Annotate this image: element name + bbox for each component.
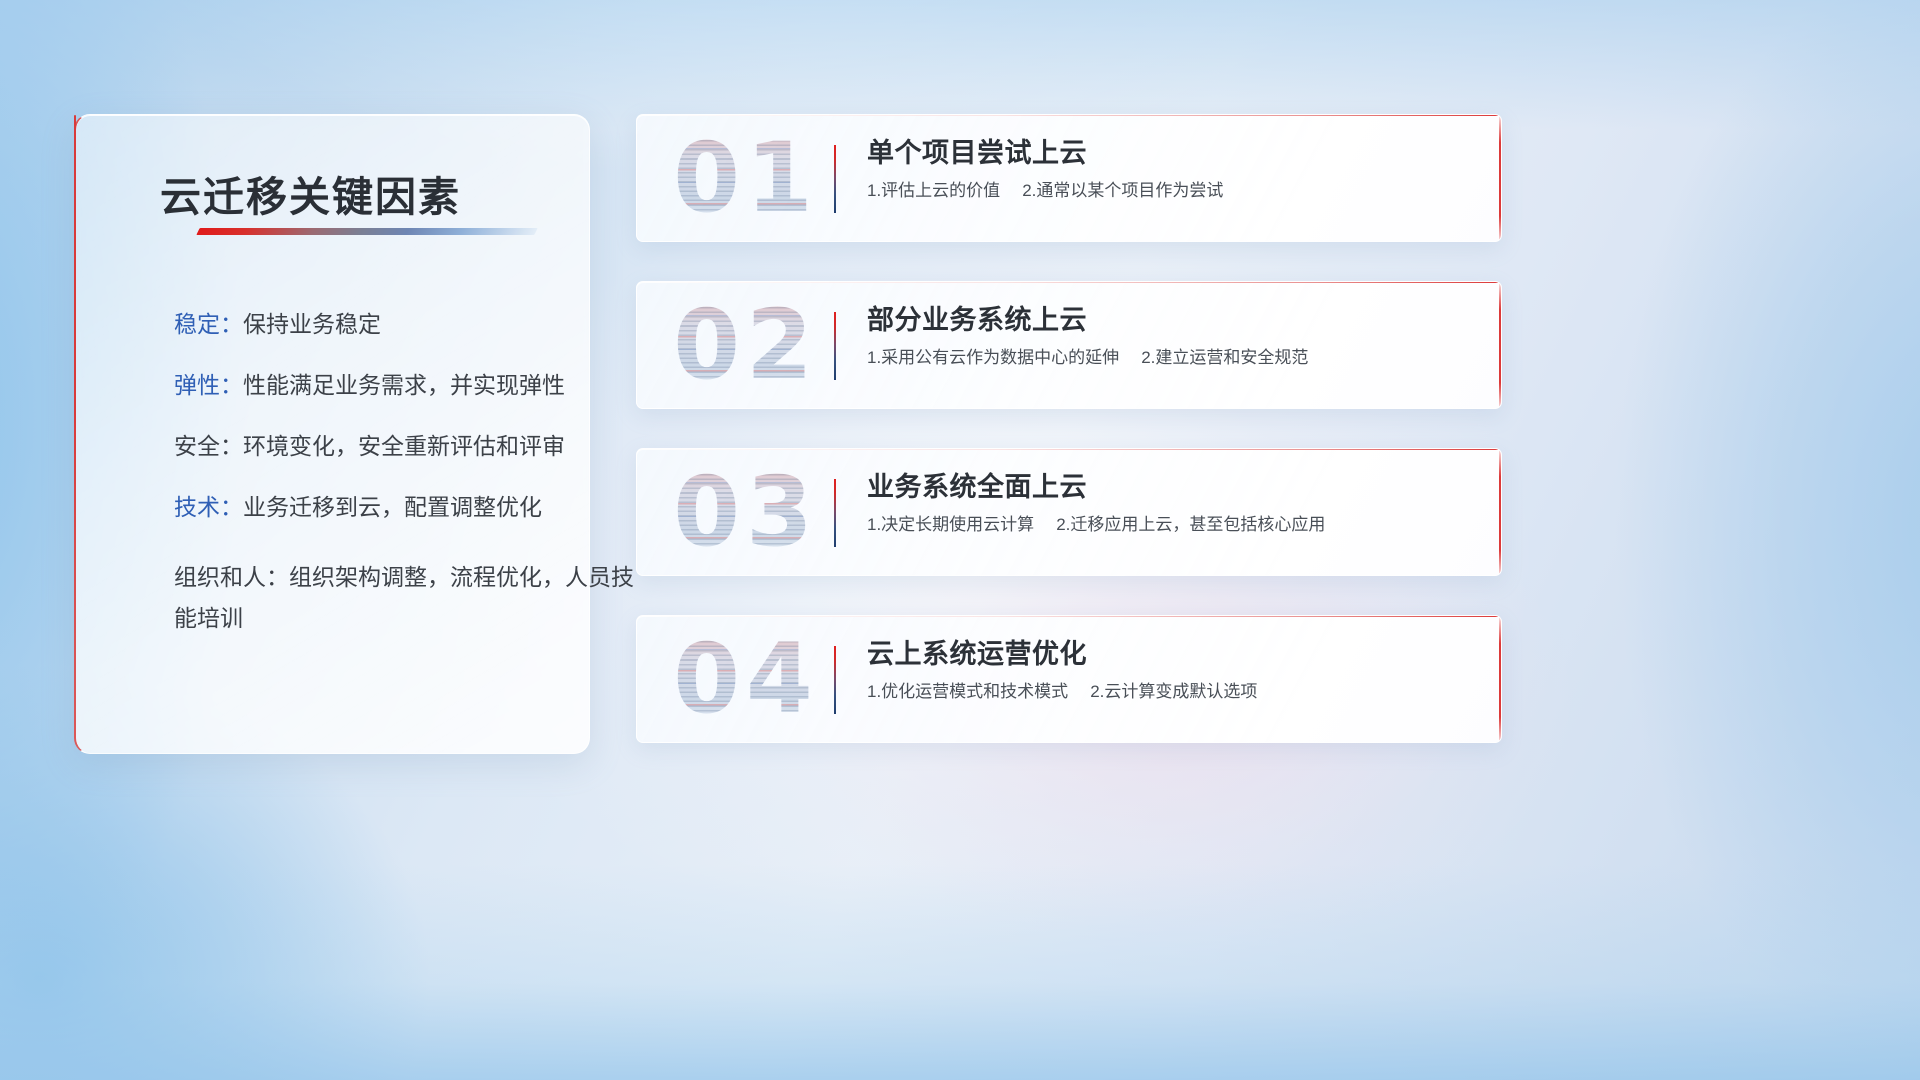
- stage-description-part-1: 1.优化运营模式和技术模式: [867, 682, 1068, 701]
- stage-content: 业务系统全面上云 1.决定长期使用云计算2.迁移应用上云，甚至包括核心应用: [867, 471, 1471, 537]
- stage-title: 单个项目尝试上云: [867, 137, 1471, 171]
- stage-number-04: 04: [655, 627, 837, 731]
- stage-description: 1.决定长期使用云计算2.迁移应用上云，甚至包括核心应用: [867, 513, 1471, 537]
- stage-title: 业务系统全面上云: [867, 471, 1471, 505]
- stage-description-part-2: 2.建立运营和安全规范: [1141, 348, 1308, 367]
- stage-description-part-2: 2.通常以某个项目作为尝试: [1022, 181, 1223, 200]
- slide-stage: 云迁移关键因素 稳定：保持业务稳定 弹性：性能满足业务需求，并实现弹性 安全：环…: [0, 0, 1920, 1080]
- page-title: 云迁移关键因素: [160, 163, 560, 223]
- fact-label: 稳定：: [174, 311, 243, 337]
- stage-content: 云上系统运营优化 1.优化运营模式和技术模式2.云计算变成默认选项: [867, 638, 1471, 704]
- fact-value: 性能满足业务需求，并实现弹性: [243, 372, 565, 398]
- stage-content: 单个项目尝试上云 1.评估上云的价值2.通常以某个项目作为尝试: [867, 137, 1471, 203]
- list-item: 组织和人：组织架构调整，流程优化，人员技能培训: [174, 557, 644, 639]
- stage-description-part-1: 1.采用公有云作为数据中心的延伸: [867, 348, 1119, 367]
- card-top-edge-accent: [637, 449, 1501, 450]
- stage-description: 1.优化运营模式和技术模式2.云计算变成默认选项: [867, 680, 1471, 704]
- card-top-edge-accent: [637, 282, 1501, 283]
- title-underline-accent: [196, 228, 537, 235]
- stage-content: 部分业务系统上云 1.采用公有云作为数据中心的延伸2.建立运营和安全规范: [867, 304, 1471, 370]
- stage-number-03: 03: [655, 460, 837, 564]
- list-item: 弹性：性能满足业务需求，并实现弹性: [174, 374, 644, 397]
- fact-label: 技术：: [174, 494, 243, 520]
- migration-stages-list: 01 单个项目尝试上云 1.评估上云的价值2.通常以某个项目作为尝试 02 部分…: [636, 114, 1502, 782]
- stage-title: 部分业务系统上云: [867, 304, 1471, 338]
- stage-card-03[interactable]: 03 业务系统全面上云 1.决定长期使用云计算2.迁移应用上云，甚至包括核心应用: [636, 448, 1502, 576]
- list-item: 技术：业务迁移到云，配置调整优化: [174, 496, 644, 519]
- stage-number-02: 02: [655, 293, 837, 397]
- card-top-edge-accent: [637, 616, 1501, 617]
- stage-card-02[interactable]: 02 部分业务系统上云 1.采用公有云作为数据中心的延伸2.建立运营和安全规范: [636, 281, 1502, 409]
- stage-divider-accent: [834, 145, 836, 213]
- stage-description-part-1: 1.决定长期使用云计算: [867, 515, 1034, 534]
- card-top-edge-accent: [637, 115, 1501, 116]
- stage-description: 1.评估上云的价值2.通常以某个项目作为尝试: [867, 179, 1471, 203]
- stage-card-01[interactable]: 01 单个项目尝试上云 1.评估上云的价值2.通常以某个项目作为尝试: [636, 114, 1502, 242]
- stage-description-part-2: 2.云计算变成默认选项: [1090, 682, 1257, 701]
- stage-divider-accent: [834, 479, 836, 547]
- stage-title: 云上系统运营优化: [867, 638, 1471, 672]
- key-factors-panel: 云迁移关键因素 稳定：保持业务稳定 弹性：性能满足业务需求，并实现弹性 安全：环…: [74, 114, 590, 754]
- stage-divider-accent: [834, 646, 836, 714]
- stage-card-04[interactable]: 04 云上系统运营优化 1.优化运营模式和技术模式2.云计算变成默认选项: [636, 615, 1502, 743]
- fact-value: 环境变化，安全重新评估和评审: [243, 433, 565, 459]
- stage-number-01: 01: [655, 126, 837, 230]
- fact-label: 组织和人：: [174, 564, 289, 590]
- stage-description-part-1: 1.评估上云的价值: [867, 181, 1000, 200]
- fact-label: 安全：: [174, 433, 243, 459]
- key-factors-list: 稳定：保持业务稳定 弹性：性能满足业务需求，并实现弹性 安全：环境变化，安全重新…: [174, 313, 644, 649]
- stage-divider-accent: [834, 312, 836, 380]
- stage-description-part-2: 2.迁移应用上云，甚至包括核心应用: [1056, 515, 1325, 534]
- fact-label: 弹性：: [174, 372, 243, 398]
- fact-value: 业务迁移到云，配置调整优化: [243, 494, 542, 520]
- list-item: 安全：环境变化，安全重新评估和评审: [174, 435, 644, 458]
- list-item: 稳定：保持业务稳定: [174, 313, 644, 336]
- fact-value: 保持业务稳定: [243, 311, 381, 337]
- stage-description: 1.采用公有云作为数据中心的延伸2.建立运营和安全规范: [867, 346, 1471, 370]
